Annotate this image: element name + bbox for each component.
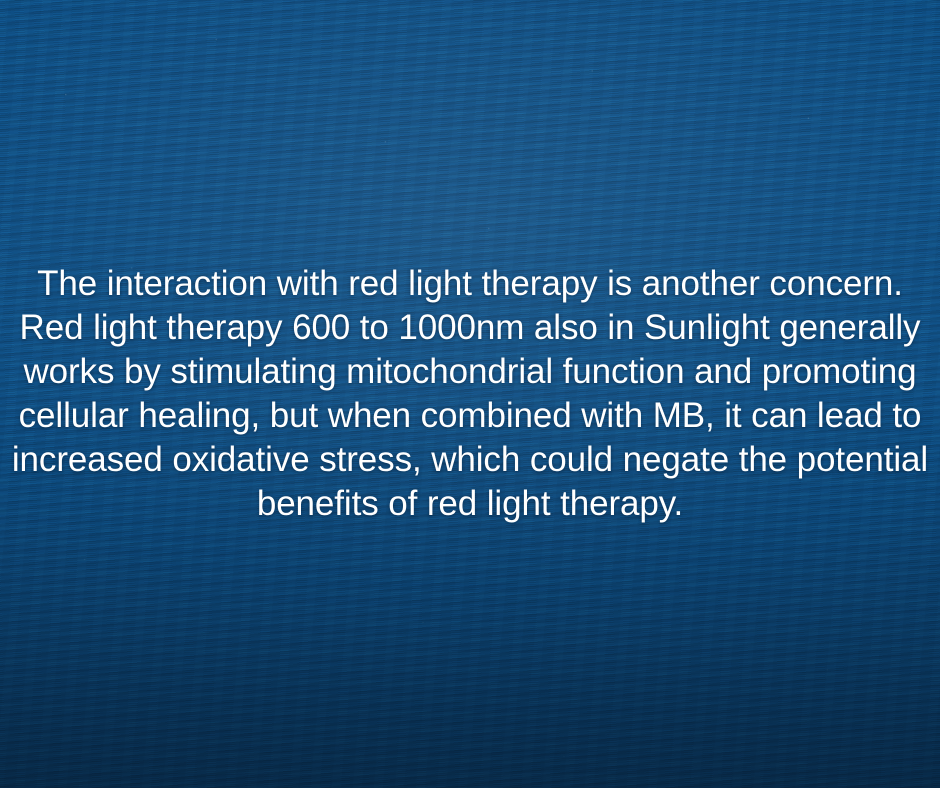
quote-text: The interaction with red light therapy i… [0,262,940,526]
quote-card: The interaction with red light therapy i… [0,0,940,788]
